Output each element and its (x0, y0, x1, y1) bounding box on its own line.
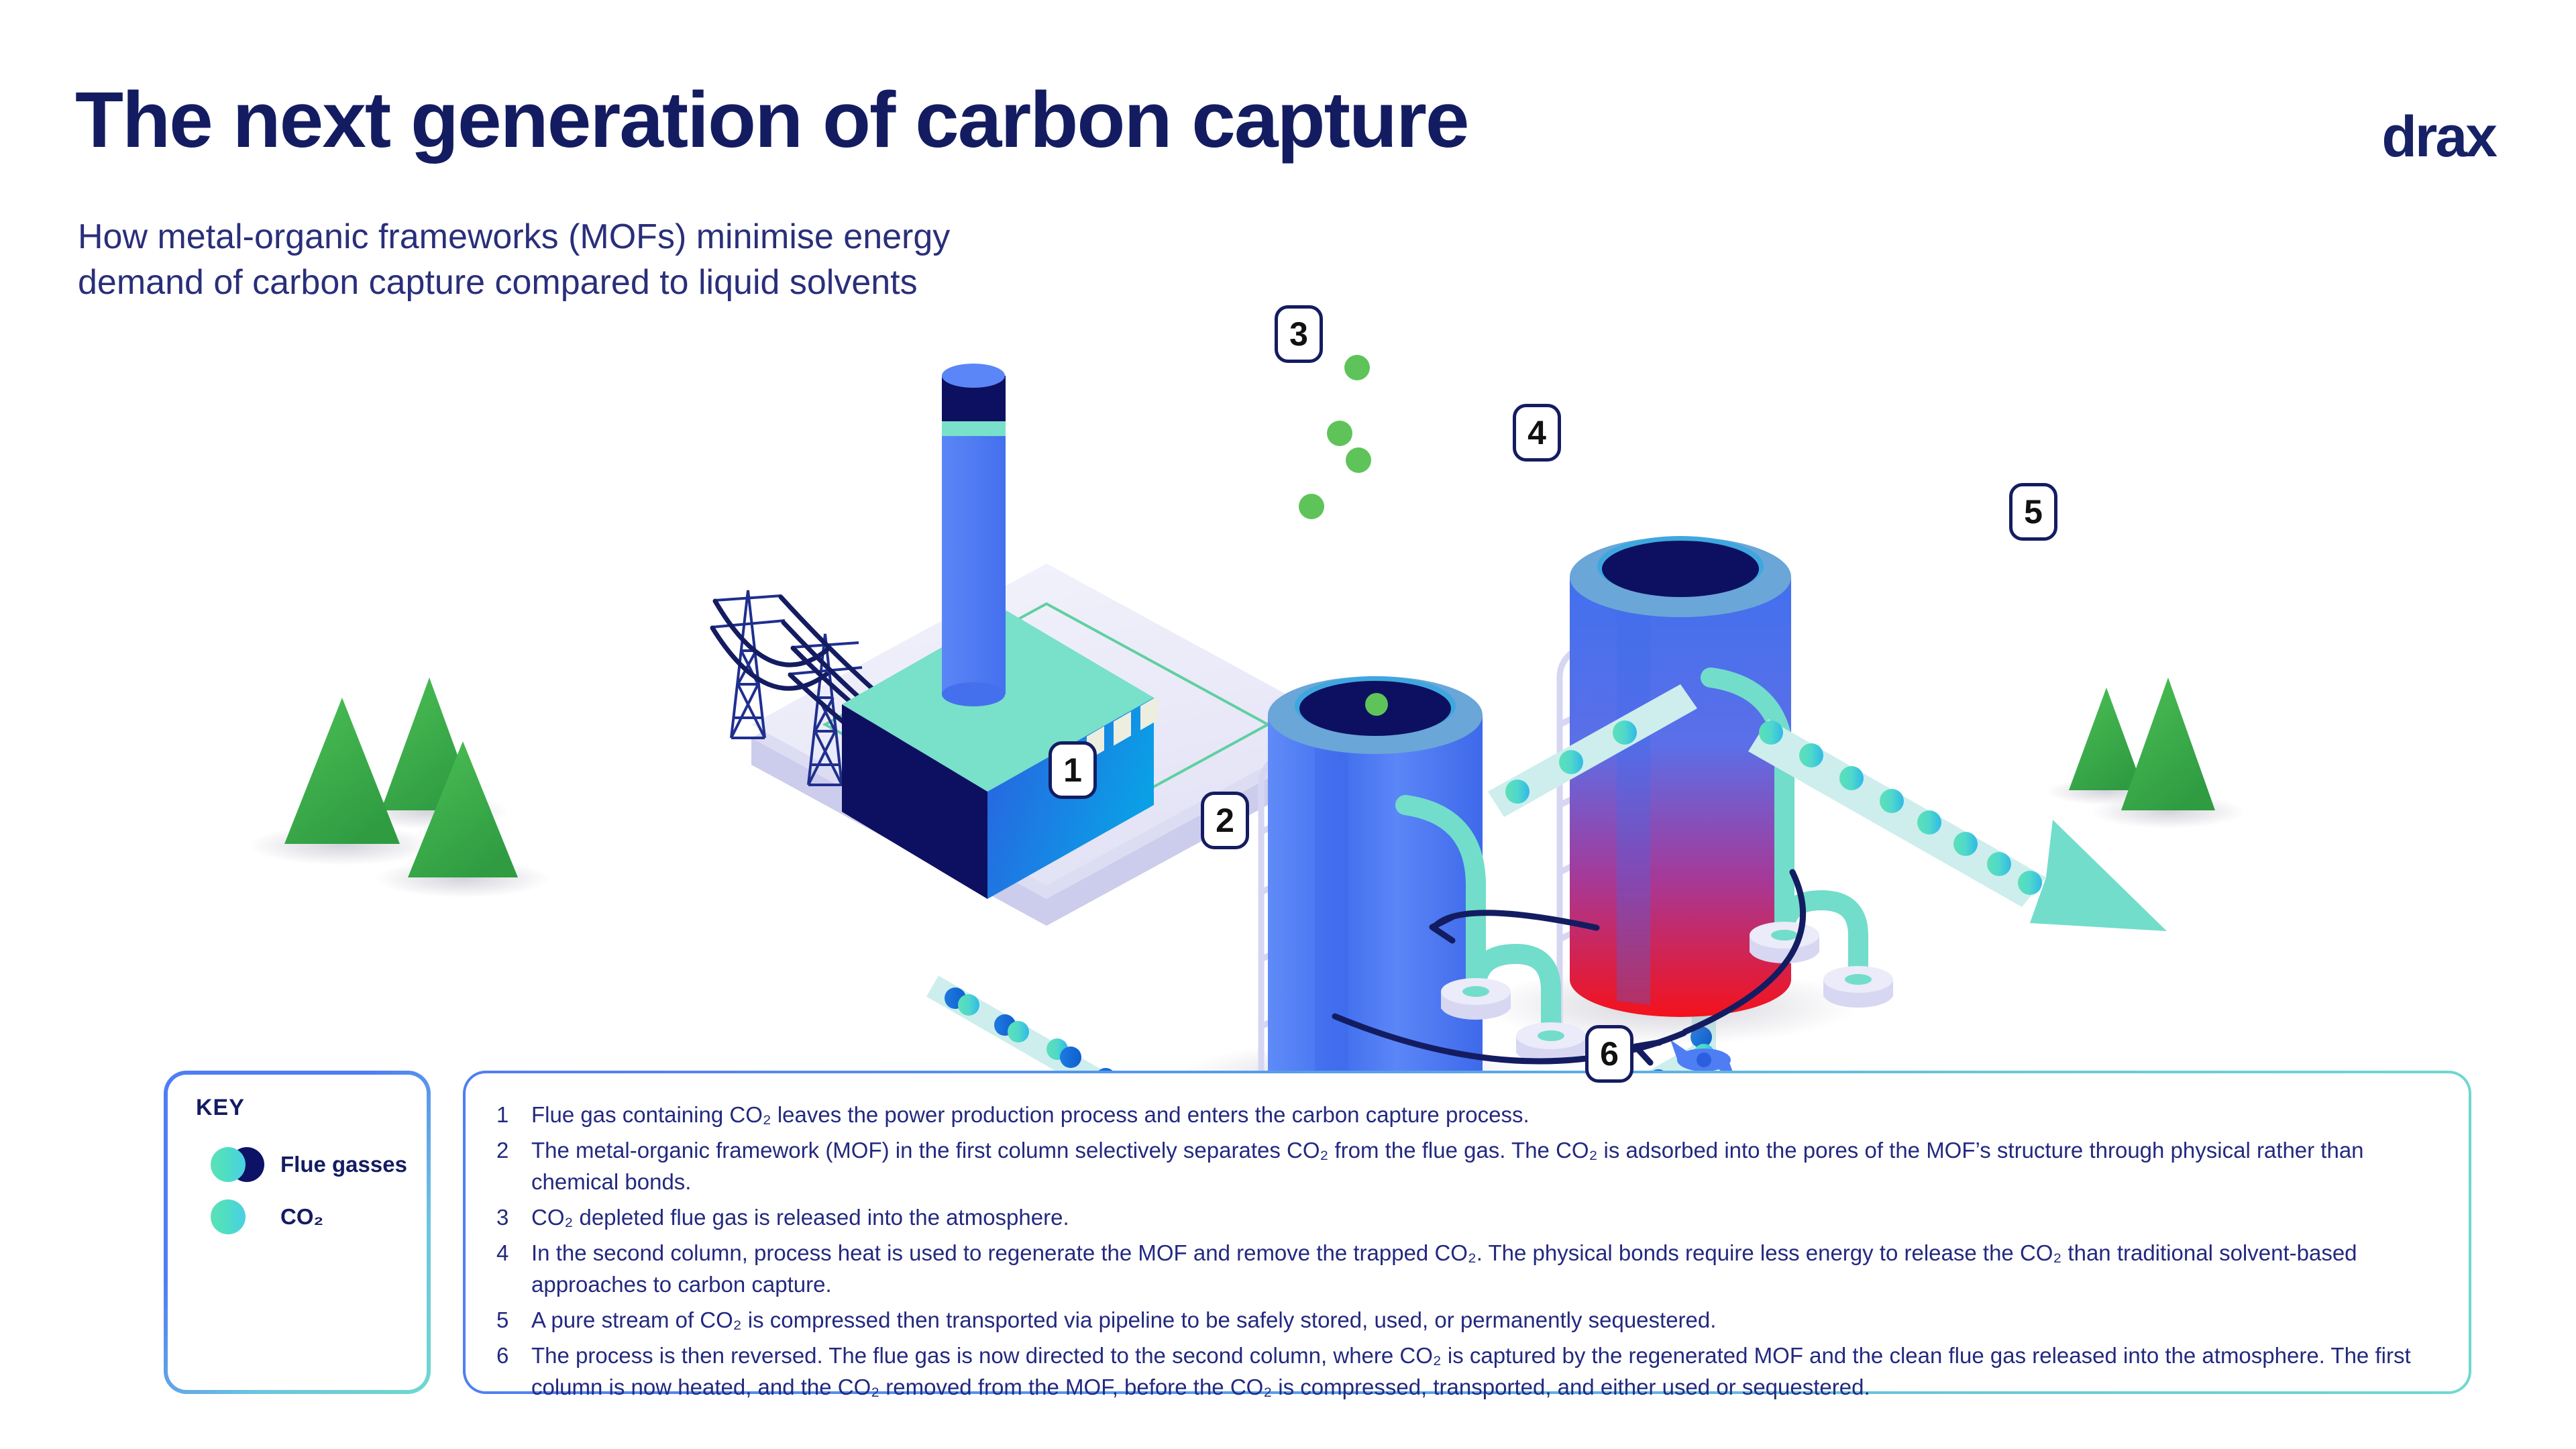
illustration-svg (0, 255, 2576, 1046)
step-badge-4[interactable]: 4 (1513, 404, 1561, 462)
key-label-co2: CO₂ (280, 1204, 323, 1230)
step-number: 1 (496, 1099, 531, 1130)
teal-dot-icon (211, 1199, 246, 1234)
step-badge-1[interactable]: 1 (1049, 741, 1097, 799)
clean-flue-gas-particle (1365, 693, 1388, 716)
steps-list: 1 Flue gas containing CO₂ leaves the pow… (496, 1099, 2442, 1407)
key-panel: KEY Flue gasses CO₂ (164, 1071, 431, 1394)
step-text: A pure stream of CO₂ is compressed then … (531, 1304, 1716, 1336)
page-title: The next generation of carbon capture (75, 80, 1468, 160)
export-arrowhead (2030, 820, 2167, 931)
co2-swatch (201, 1195, 280, 1238)
step-badge-3[interactable]: 3 (1275, 305, 1323, 363)
list-item: 6 The process is then reversed. The flue… (496, 1340, 2442, 1403)
process-illustration: 1 2 3 4 5 6 (0, 255, 2576, 1046)
teal-dot-icon (211, 1147, 246, 1182)
step-text: CO₂ depleted flue gas is released into t… (531, 1201, 1069, 1233)
key-title: KEY (196, 1095, 245, 1121)
list-item: 5 A pure stream of CO₂ is compressed the… (496, 1304, 2442, 1336)
steps-panel: 1 Flue gas containing CO₂ leaves the pow… (463, 1071, 2471, 1394)
tree-group-right (2046, 678, 2245, 828)
flue-gasses-swatch (201, 1143, 280, 1186)
step-number: 2 (496, 1134, 531, 1197)
step-number: 5 (496, 1304, 531, 1336)
key-label-flue-gasses: Flue gasses (280, 1152, 407, 1177)
key-item-flue-gasses: Flue gasses (201, 1143, 407, 1186)
drax-logo: drax (2381, 104, 2495, 170)
step-badge-6[interactable]: 6 (1585, 1025, 1633, 1083)
step-number: 4 (496, 1237, 531, 1300)
step-text: In the second column, process heat is us… (531, 1237, 2442, 1300)
step-text: The metal-organic framework (MOF) in the… (531, 1134, 2442, 1197)
step-badge-5[interactable]: 5 (2009, 483, 2057, 541)
key-item-co2: CO₂ (201, 1195, 323, 1238)
infographic-root: The next generation of carbon capture Ho… (0, 0, 2576, 1449)
step-text: Flue gas containing CO₂ leaves the power… (531, 1099, 1529, 1130)
list-item: 2 The metal-organic framework (MOF) in t… (496, 1134, 2442, 1197)
step-badge-2[interactable]: 2 (1201, 792, 1249, 849)
list-item: 1 Flue gas containing CO₂ leaves the pow… (496, 1099, 2442, 1130)
chimney (942, 364, 1006, 706)
list-item: 4 In the second column, process heat is … (496, 1237, 2442, 1300)
list-item: 3 CO₂ depleted flue gas is released into… (496, 1201, 2442, 1233)
step-text: The process is then reversed. The flue g… (531, 1340, 2442, 1403)
step-number: 6 (496, 1340, 531, 1403)
step-number: 3 (496, 1201, 531, 1233)
clean-flue-gas-emission (1299, 355, 1371, 519)
tree-group-left (248, 678, 550, 898)
